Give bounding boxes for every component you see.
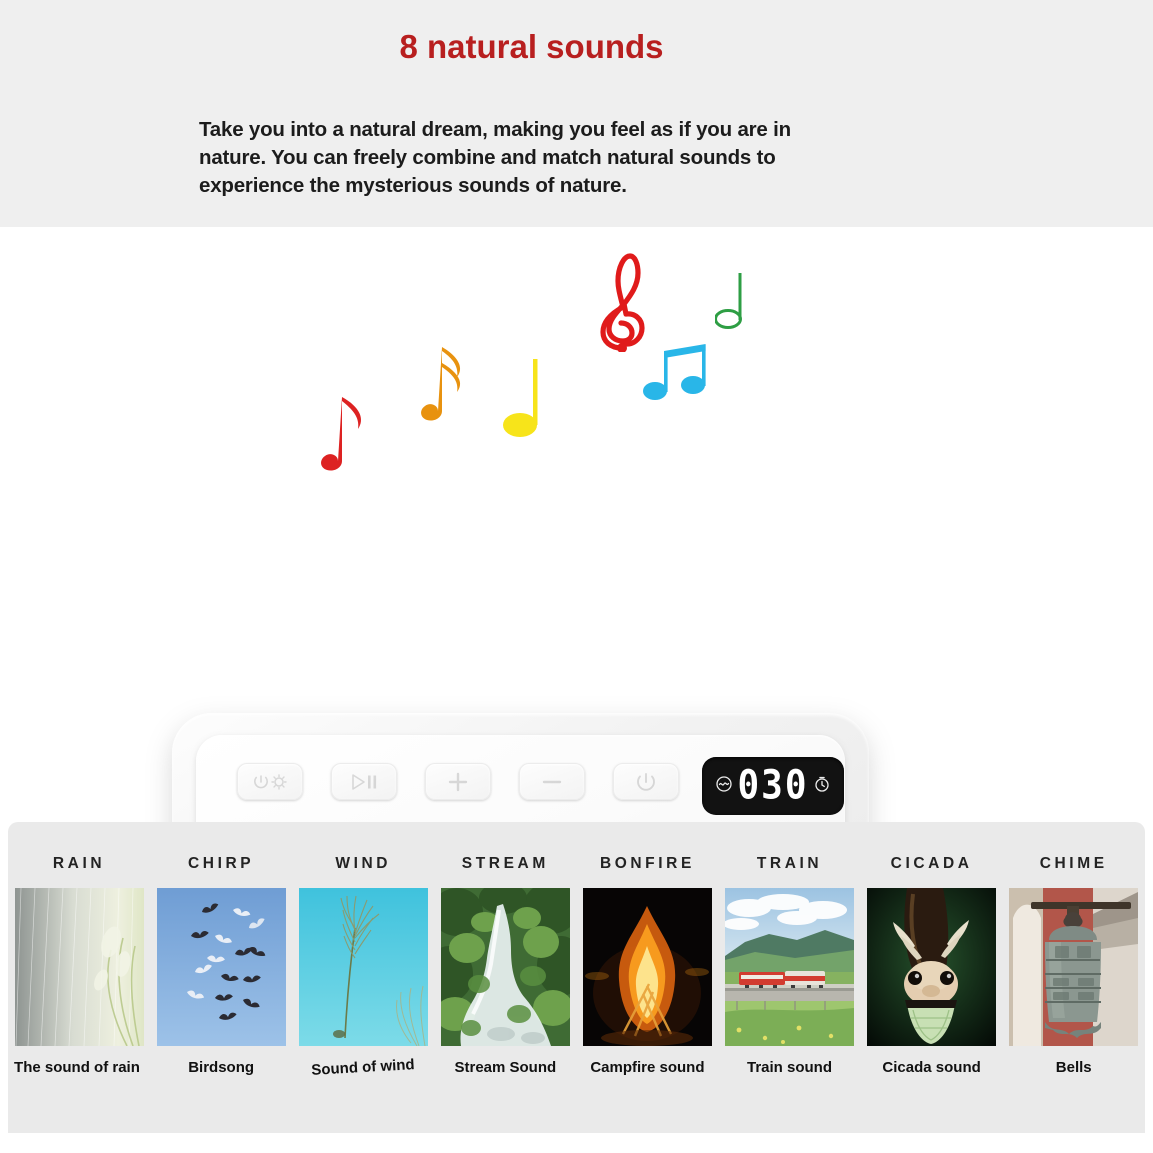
half-note-green-icon bbox=[715, 271, 749, 338]
sound-card-stream[interactable]: STREAM bbox=[434, 822, 576, 1078]
card-label: Cicada sound bbox=[865, 1058, 999, 1078]
card-caption: CHIME bbox=[1040, 855, 1108, 873]
sound-card-chime[interactable]: CHIME bbox=[1003, 822, 1145, 1078]
play-pause-button[interactable] bbox=[331, 763, 397, 800]
illustration-stage: 030 bbox=[0, 227, 1153, 822]
sound-card-rain[interactable]: RAIN bbox=[8, 822, 150, 1078]
train-photo bbox=[725, 888, 854, 1046]
treble-clef-red-icon bbox=[597, 252, 645, 357]
light-power-button[interactable] bbox=[237, 763, 303, 800]
card-caption: CHIRP bbox=[188, 855, 254, 873]
birds-photo bbox=[157, 888, 286, 1046]
header-band: 8 natural sounds Take you into a natural… bbox=[0, 0, 1153, 227]
volume-up-button[interactable] bbox=[425, 763, 491, 800]
timer-icon bbox=[814, 776, 830, 797]
card-caption: TRAIN bbox=[757, 855, 822, 873]
sound-card-wind[interactable]: WIND bbox=[292, 822, 434, 1078]
card-label: Bells bbox=[1007, 1058, 1141, 1078]
card-caption: STREAM bbox=[462, 855, 549, 873]
page-subtitle: Take you into a natural dream, making yo… bbox=[199, 116, 859, 200]
sound-card-train[interactable]: TRAIN bbox=[718, 822, 860, 1078]
card-label: Sound of wind bbox=[296, 1054, 431, 1081]
card-caption: CICADA bbox=[891, 855, 973, 873]
bonfire-photo bbox=[583, 888, 712, 1046]
sound-card-list: RAIN bbox=[8, 822, 1145, 1078]
sound-card-strip: RAIN bbox=[8, 822, 1145, 1133]
sound-card-cicada[interactable]: CICADA bbox=[861, 822, 1003, 1078]
quarter-note-yellow-icon bbox=[503, 357, 548, 444]
cicada-photo bbox=[867, 888, 996, 1046]
device-button-row bbox=[237, 763, 679, 800]
card-label: Train sound bbox=[723, 1058, 857, 1078]
volume-down-button[interactable] bbox=[519, 763, 585, 800]
card-label: Stream Sound bbox=[438, 1058, 572, 1078]
bell-photo bbox=[1009, 888, 1138, 1046]
sixteenth-note-orange-icon bbox=[418, 345, 470, 428]
card-caption: WIND bbox=[335, 855, 391, 873]
card-caption: RAIN bbox=[53, 855, 105, 873]
eighth-note-red-icon bbox=[318, 395, 372, 478]
card-label: Campfire sound bbox=[580, 1058, 714, 1078]
rain-photo bbox=[15, 888, 144, 1046]
page-title: 8 natural sounds bbox=[0, 28, 1063, 66]
card-label: Birdsong bbox=[154, 1058, 288, 1078]
sound-wave-icon bbox=[716, 776, 732, 797]
beamed-eighth-notes-cyan-icon bbox=[643, 341, 709, 408]
card-caption: BONFIRE bbox=[600, 855, 695, 873]
reed-photo bbox=[299, 888, 428, 1046]
power-button[interactable] bbox=[613, 763, 679, 800]
led-display: 030 bbox=[702, 757, 844, 815]
sound-card-bonfire[interactable]: BONFIRE Campfire sound bbox=[576, 822, 718, 1078]
sound-card-chirp[interactable]: CHIRP bbox=[150, 822, 292, 1078]
card-label: The sound of rain bbox=[10, 1058, 148, 1078]
led-value: 030 bbox=[737, 766, 808, 806]
stream-photo bbox=[441, 888, 570, 1046]
